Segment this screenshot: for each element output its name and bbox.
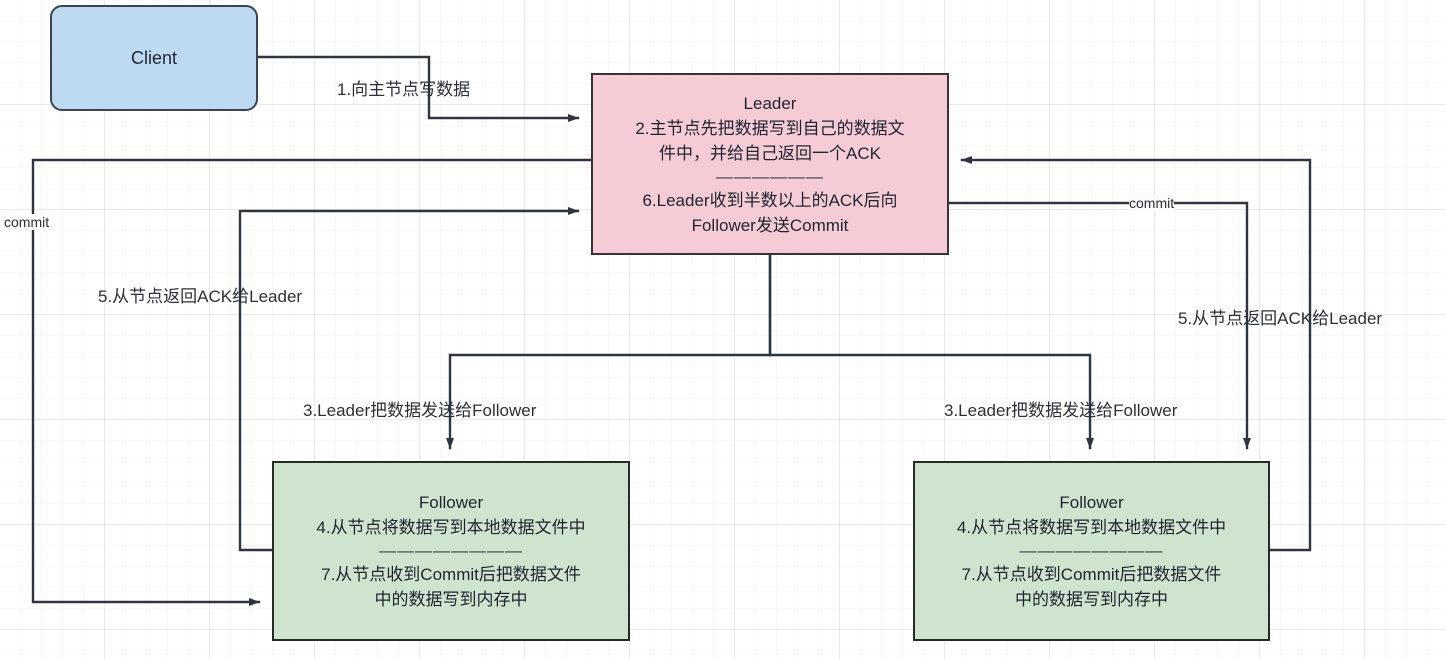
node-follower-right[interactable]: Follower 4.从节点将数据写到本地数据文件中 ———————— 7.从节… <box>913 461 1270 641</box>
leader-line-1: 2.主节点先把数据写到自己的数据文 <box>635 116 904 141</box>
follower-left-title: Follower <box>419 490 483 515</box>
diagram-canvas: Client Leader 2.主节点先把数据写到自己的数据文 件中，并给自己返… <box>0 0 1446 659</box>
leader-line-4: Follower发送Commit <box>692 213 849 238</box>
edge-label-step3-right: 3.Leader把数据发送给Follower <box>944 401 1177 421</box>
leader-separator: —————— <box>716 166 824 188</box>
edge-label-step3-left: 3.Leader把数据发送给Follower <box>303 401 536 421</box>
follower-right-separator: ———————— <box>1020 540 1164 562</box>
node-client[interactable]: Client <box>50 5 258 111</box>
edge-label-commit-left: commit <box>4 214 49 230</box>
node-follower-left[interactable]: Follower 4.从节点将数据写到本地数据文件中 ———————— 7.从节… <box>272 461 630 641</box>
follower-right-line-3: 中的数据写到内存中 <box>1015 587 1168 612</box>
edge-label-commit-right: commit <box>1129 195 1174 211</box>
leader-line-2: 件中，并给自己返回一个ACK <box>659 141 881 166</box>
follower-left-separator: ———————— <box>379 540 523 562</box>
follower-right-line-1: 4.从节点将数据写到本地数据文件中 <box>957 515 1226 540</box>
edge-label-step5-right: 5.从节点返回ACK给Leader <box>1178 309 1382 329</box>
node-leader[interactable]: Leader 2.主节点先把数据写到自己的数据文 件中，并给自己返回一个ACK … <box>591 73 949 255</box>
leader-title: Leader <box>744 91 797 116</box>
follower-left-line-2: 7.从节点收到Commit后把数据文件 <box>321 562 581 587</box>
follower-left-line-1: 4.从节点将数据写到本地数据文件中 <box>316 515 585 540</box>
client-title: Client <box>131 46 177 71</box>
follower-left-line-3: 中的数据写到内存中 <box>375 587 528 612</box>
follower-right-title: Follower <box>1059 490 1123 515</box>
follower-right-line-2: 7.从节点收到Commit后把数据文件 <box>962 562 1222 587</box>
edge-label-step1: 1.向主节点写数据 <box>337 80 470 100</box>
leader-line-3: 6.Leader收到半数以上的ACK后向 <box>642 188 897 213</box>
edge-label-step5-left: 5.从节点返回ACK给Leader <box>98 287 302 307</box>
